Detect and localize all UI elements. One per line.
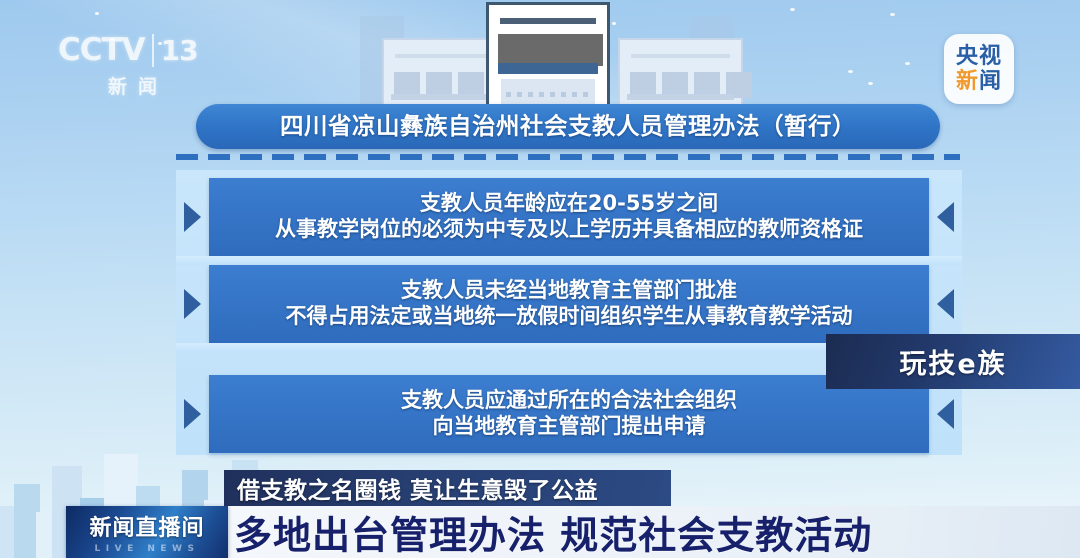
- item-1-line-1: 支教人员年龄应在20-55岁之间: [420, 191, 718, 217]
- item-3-line-1: 支教人员应通过所在的合法社会组织: [401, 388, 737, 414]
- chevron-right-icon: [184, 399, 201, 429]
- lower-third-subtitle: 借支教之名圈钱 莫让生意毁了公益: [237, 471, 598, 505]
- program-subtitle: LIVE NEWS: [95, 544, 200, 554]
- building-right: [618, 38, 743, 114]
- lower-third-headline: 多地出台管理办法 规范社会支教活动: [234, 505, 872, 558]
- item-row-2: 支教人员未经当地教育主管部门批准 不得占用法定或当地统一放假时间组织学生从事教育…: [176, 265, 962, 343]
- item-3-line-2: 向当地教育主管部门提出申请: [433, 414, 706, 440]
- program-logo: 新闻直播间 LIVE NEWS: [66, 506, 228, 558]
- cctv-channel-number: 13: [152, 34, 198, 67]
- cctv-wordmark: CCTV: [58, 32, 145, 68]
- graphic-title-text: 四川省凉山彝族自治州社会支教人员管理办法（暂行）: [280, 115, 856, 139]
- cctv-logo-subtitle: 新闻: [58, 72, 218, 99]
- news-badge-line1: 央视: [956, 45, 1002, 68]
- news-badge-line2: 新闻: [956, 70, 1002, 93]
- item-1-line-2: 从事教学岗位的必须为中专及以上学历并具备相应的教师资格证: [275, 217, 863, 243]
- cctv-news-badge: 央视 新闻: [944, 34, 1014, 104]
- sparkle-dot: [95, 12, 99, 15]
- news-badge-char-xin: 新: [956, 69, 979, 94]
- item-box-2: 支教人员未经当地教育主管部门批准 不得占用法定或当地统一放假时间组织学生从事教育…: [209, 265, 929, 343]
- sparkle-dot: [790, 8, 795, 11]
- item-gap-1: [176, 256, 962, 265]
- chevron-right-icon: [184, 202, 201, 232]
- graphic-title-pill: 四川省凉山彝族自治州社会支教人员管理办法（暂行）: [196, 104, 940, 149]
- sparkle-dot: [868, 82, 873, 85]
- item-box-3: 支教人员应通过所在的合法社会组织 向当地教育主管部门提出申请: [209, 375, 929, 453]
- item-box-1: 支教人员年龄应在20-55岁之间 从事教学岗位的必须为中专及以上学历并具备相应的…: [209, 178, 929, 256]
- sparkle-dot: [848, 70, 853, 73]
- sparkle-dot: [905, 62, 910, 65]
- program-name: 新闻直播间: [89, 510, 204, 542]
- lower-third-headline-band: 多地出台管理办法 规范社会支教活动: [224, 506, 1080, 558]
- building-center-document: [486, 2, 610, 114]
- watermark-text: 玩技e族: [899, 342, 1006, 381]
- chevron-left-icon: [937, 399, 954, 429]
- item-2-line-2: 不得占用法定或当地统一放假时间组织学生从事教育教学活动: [286, 304, 853, 330]
- item-2-line-1: 支教人员未经当地教育主管部门批准: [401, 278, 737, 304]
- sparkle-dot: [612, 22, 616, 25]
- chevron-right-icon: [184, 289, 201, 319]
- broadcast-screen: CCTV 13 新闻 央视 新闻 四川省凉山彝族自治州社会支教人员管理办法（暂行…: [0, 0, 1080, 558]
- chevron-left-icon: [937, 289, 954, 319]
- chevron-left-icon: [937, 202, 954, 232]
- lower-third-subtitle-band: 借支教之名圈钱 莫让生意毁了公益: [224, 470, 671, 506]
- cctv13-logo: CCTV 13 新闻: [58, 32, 218, 100]
- channel-watermark: 玩技e族: [826, 334, 1080, 389]
- sparkle-dot: [890, 13, 895, 16]
- item-row-1: 支教人员年龄应在20-55岁之间 从事教学岗位的必须为中专及以上学历并具备相应的…: [176, 178, 962, 256]
- dashed-divider: [176, 154, 960, 160]
- news-badge-char-wen: 闻: [979, 69, 1002, 94]
